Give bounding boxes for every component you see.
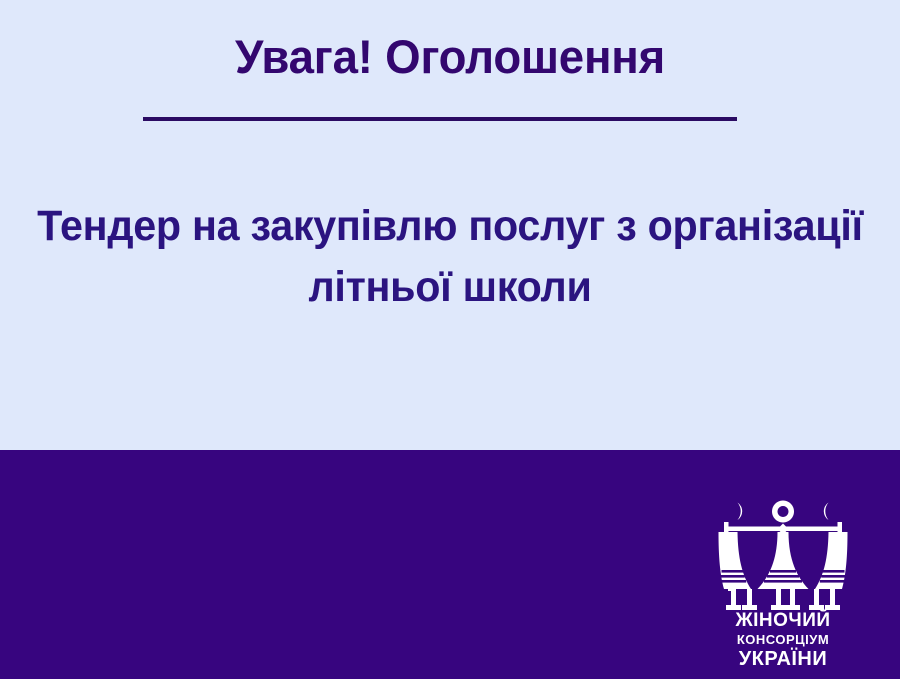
logo-wordmark-line-2: КОНСОРЦІУМ bbox=[712, 631, 854, 648]
skirt-stripes bbox=[720, 570, 846, 583]
logo-wordmark: ЖІНОЧИЙ КОНСОРЦІУМ УКРАЇНИ bbox=[712, 610, 854, 671]
logo-wordmark-line-1: ЖІНОЧИЙ bbox=[712, 610, 854, 631]
announcement-text: Тендер на закупівлю послуг з організації… bbox=[0, 196, 900, 318]
title-divider bbox=[143, 117, 737, 121]
center-ring-head bbox=[772, 501, 794, 523]
announcement-poster: Увага! Оголошення Тендер на закупівлю по… bbox=[0, 0, 900, 679]
announcement-text-line-1: Тендер на закупівлю послуг з організації bbox=[18, 196, 882, 257]
organization-logo: ЖІНОЧИЙ КОНСОРЦІУМ УКРАЇНИ bbox=[712, 496, 854, 666]
three-women-emblem-svg bbox=[718, 496, 848, 614]
left-crescent-head bbox=[738, 503, 743, 521]
page-title: Увага! Оголошення bbox=[14, 28, 887, 86]
logo-wordmark-line-3: УКРАЇНИ bbox=[712, 648, 854, 671]
right-crescent-head bbox=[824, 503, 829, 521]
figure-feet bbox=[726, 589, 840, 610]
three-women-emblem bbox=[718, 496, 848, 614]
announcement-text-line-2: літньої школи bbox=[18, 257, 882, 318]
